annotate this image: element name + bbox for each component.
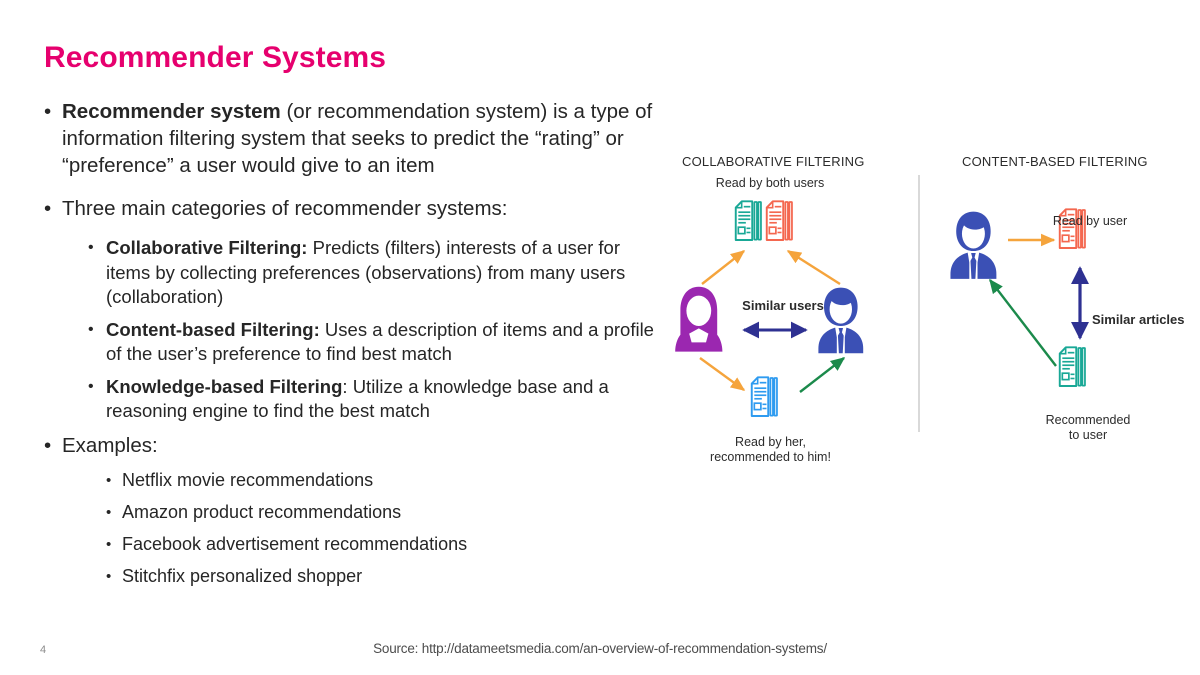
doc-blue-icon bbox=[752, 377, 777, 416]
bullet-dot: • bbox=[106, 501, 111, 524]
label-read-by-both-users: Read by both users bbox=[700, 176, 840, 191]
list-item: • Netflix movie recommendations bbox=[102, 469, 660, 492]
arrow-man-to-docs bbox=[788, 251, 840, 284]
label-similar-users: Similar users bbox=[733, 298, 833, 313]
list-item-text: Examples: bbox=[62, 434, 158, 457]
recommender-diagram: COLLABORATIVE FILTERING CONTENT-BASED FI… bbox=[660, 140, 1190, 470]
bullet-dot: • bbox=[88, 318, 94, 343]
bullet-dot: • bbox=[106, 469, 111, 492]
list-item-bold: Recommender system bbox=[62, 100, 281, 123]
source-attribution: Source: http://datameetsmedia.com/an-ove… bbox=[0, 641, 1200, 656]
doc-red-icon bbox=[767, 201, 792, 240]
bullet-dot: • bbox=[106, 533, 111, 556]
list-item-bold: Content-based Filtering: bbox=[106, 319, 320, 340]
list-item-text: Three main categories of recommender sys… bbox=[62, 197, 507, 220]
list-item: • Amazon product recommendations bbox=[102, 501, 660, 524]
bullet-dot: • bbox=[44, 432, 51, 459]
label-recommended: Recommended bbox=[1028, 413, 1148, 428]
arrow-woman-to-docs bbox=[702, 251, 744, 284]
man-icon-content bbox=[950, 212, 996, 279]
woman-icon bbox=[675, 287, 722, 352]
page-title: Recommender Systems bbox=[44, 41, 386, 75]
list-item: • Three main categories of recommender s… bbox=[40, 195, 660, 222]
doc-teal-icon bbox=[736, 201, 761, 240]
list-item-bold: Collaborative Filtering: bbox=[106, 237, 307, 258]
list-item-bold: Knowledge-based Filtering bbox=[106, 376, 342, 397]
bullet-dot: • bbox=[106, 565, 111, 588]
list-item: • Collaborative Filtering: Predicts (fil… bbox=[84, 236, 660, 310]
list-item-text: Stitchfix personalized shopper bbox=[122, 566, 362, 586]
list-item: • Examples: bbox=[40, 432, 660, 459]
list-item-text: Facebook advertisement recommendations bbox=[122, 534, 467, 554]
label-recommended-to-him: recommended to him! bbox=[698, 450, 843, 465]
bullet-dot: • bbox=[44, 98, 51, 125]
list-item: • Facebook advertisement recommendations bbox=[102, 533, 660, 556]
arrow-doc-to-user bbox=[990, 280, 1056, 366]
label-read-by-her: Read by her, bbox=[698, 435, 843, 450]
slide: Recommender Systems • Recommender system… bbox=[0, 0, 1200, 675]
list-item-text: Amazon product recommendations bbox=[122, 502, 401, 522]
label-similar-articles: Similar articles bbox=[1092, 312, 1200, 327]
bullet-dot: • bbox=[88, 375, 94, 400]
bullet-dot: • bbox=[44, 195, 51, 222]
list-item: • Content-based Filtering: Uses a descri… bbox=[84, 318, 660, 367]
arrow-doc-to-man bbox=[800, 358, 844, 392]
bullet-list: • Recommender system (or recommendation … bbox=[40, 98, 660, 597]
list-item: • Stitchfix personalized shopper bbox=[102, 565, 660, 588]
arrow-woman-to-doc-bottom bbox=[700, 358, 744, 390]
label-to-user: to user bbox=[1028, 428, 1148, 443]
list-item: • Knowledge-based Filtering: Utilize a k… bbox=[84, 375, 660, 424]
doc-teal-icon-content bbox=[1060, 347, 1085, 386]
list-item: • Recommender system (or recommendation … bbox=[40, 98, 660, 179]
bullet-dot: • bbox=[88, 236, 94, 261]
label-read-by-user: Read by user bbox=[1038, 214, 1142, 229]
list-item-text: Netflix movie recommendations bbox=[122, 470, 373, 490]
